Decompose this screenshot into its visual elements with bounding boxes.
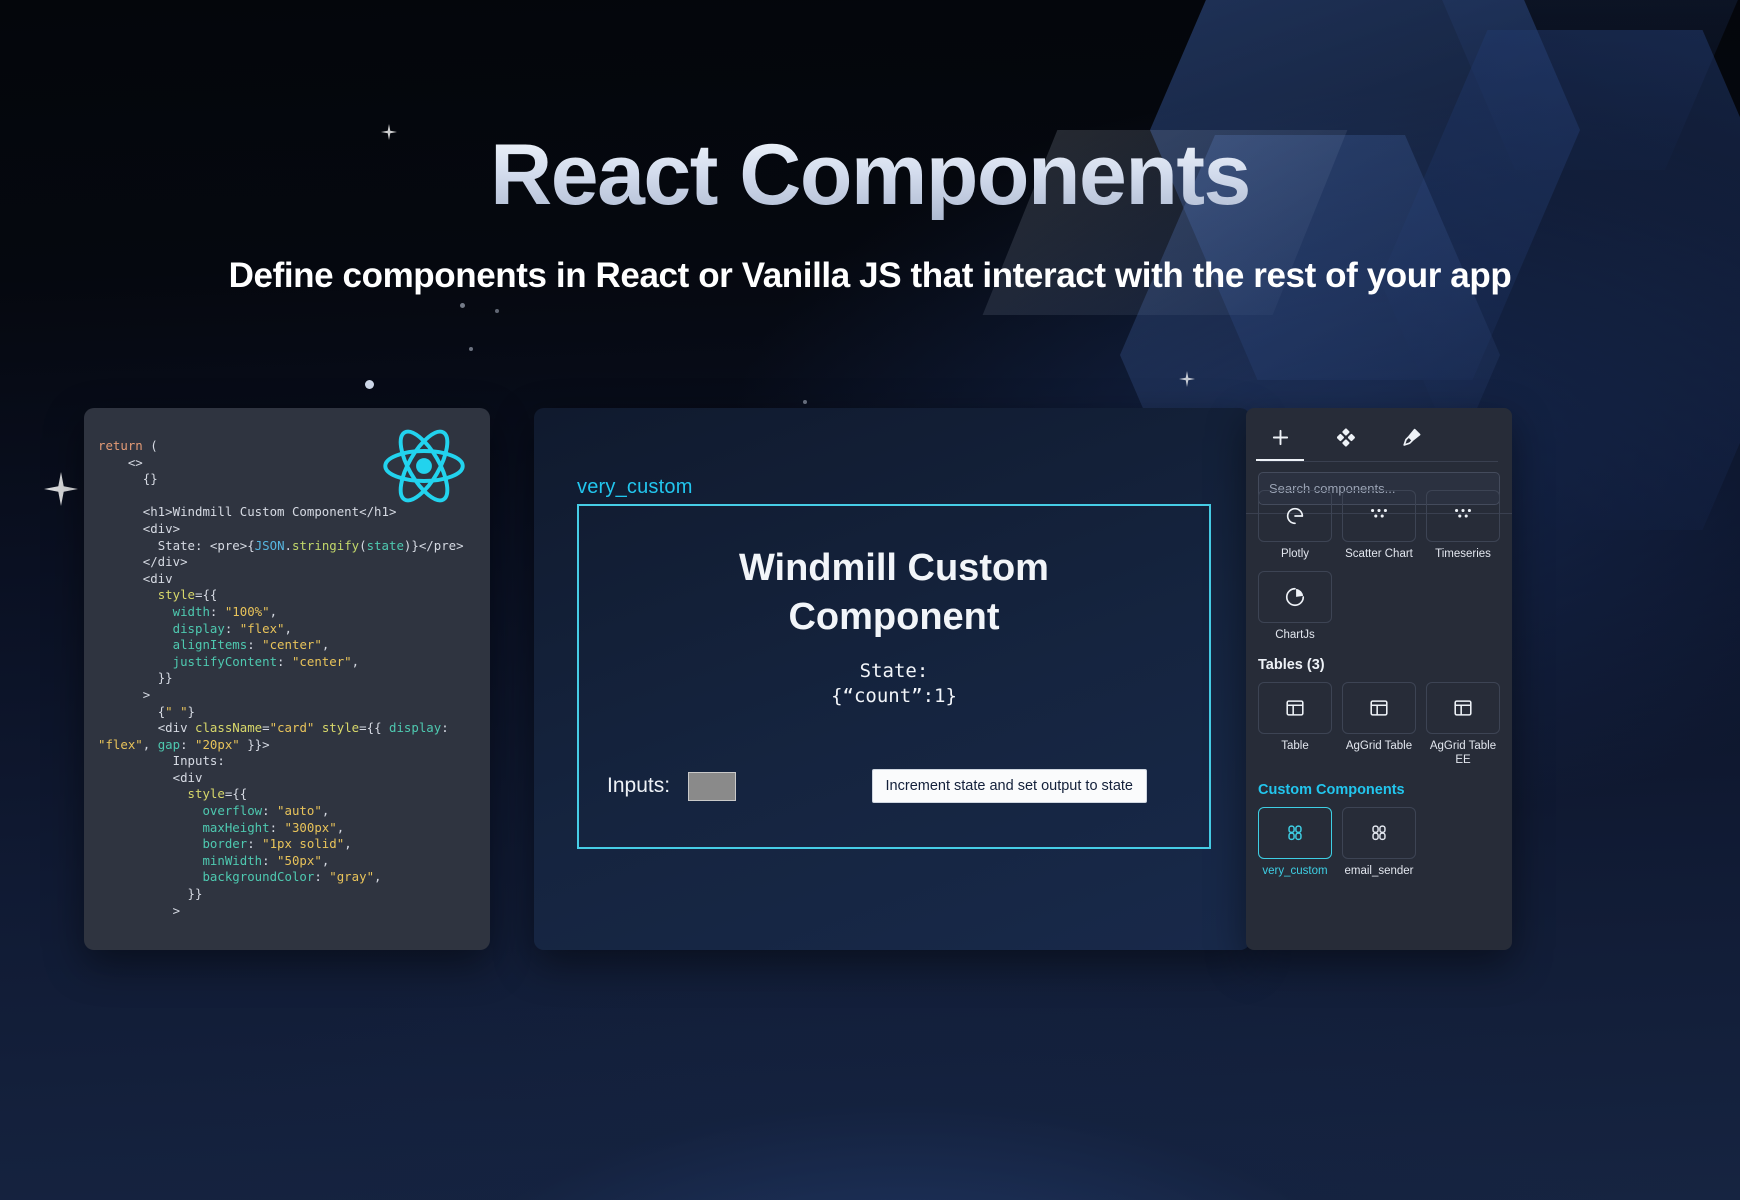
library-item-label: Plotly (1258, 547, 1332, 561)
library-item-label: very_custom (1258, 864, 1332, 878)
table-tile[interactable] (1258, 682, 1332, 734)
tab-components[interactable] (1326, 420, 1366, 454)
library-item[interactable]: AgGrid Table EE (1426, 682, 1500, 768)
code-editor-card: return ( <> {} <h1>Windmill Custom Compo… (84, 408, 490, 950)
library-item-label: AgGrid Table EE (1426, 739, 1500, 768)
code-block: return ( <> {} <h1>Windmill Custom Compo… (84, 438, 490, 919)
library-item[interactable]: Plotly (1258, 490, 1332, 561)
inputs-label: Inputs: (607, 774, 670, 798)
library-item-label: ChartJs (1258, 628, 1332, 642)
library-item-label: AgGrid Table (1342, 739, 1416, 753)
gauge-chart-icon (1284, 505, 1306, 527)
charts-row-2: ChartJs (1258, 571, 1500, 642)
library-item-label: Timeseries (1426, 547, 1500, 561)
state-value: {“count”:1} (579, 684, 1209, 709)
tables-section-title: Tables (3) (1258, 657, 1500, 673)
library-item[interactable]: ChartJs (1258, 571, 1332, 642)
custom-components-row: very_custom email_sender (1258, 807, 1500, 878)
library-item-label: Table (1258, 739, 1332, 753)
dot-decoration (365, 380, 374, 389)
library-item[interactable]: AgGrid Table (1342, 682, 1416, 768)
pie-chart-icon (1284, 586, 1306, 608)
diamond-grid-icon (1337, 428, 1356, 447)
increment-state-button[interactable]: Increment state and set output to state (872, 769, 1147, 803)
library-item[interactable]: email_sender (1342, 807, 1416, 878)
chart-tile[interactable] (1258, 571, 1332, 623)
table-grid-icon (1452, 697, 1474, 719)
library-item[interactable]: Timeseries (1426, 490, 1500, 561)
chart-tile[interactable] (1426, 490, 1500, 542)
inputs-preview-box (688, 772, 736, 801)
scatter-dots-icon (1452, 505, 1474, 527)
chart-tile[interactable] (1342, 490, 1416, 542)
selected-component-frame[interactable]: Windmill Custom Component State: {“count… (577, 504, 1211, 849)
page-subtitle: Define components in React or Vanilla JS… (0, 256, 1740, 296)
sparkle-icon (44, 472, 78, 506)
panel-content: Plotly Scatter Chart (1246, 490, 1512, 878)
component-state: State: {“count”:1} (579, 659, 1209, 708)
table-tile[interactable] (1426, 682, 1500, 734)
sparkle-icon (1179, 371, 1195, 387)
component-controls-row: Inputs: Increment state and set output t… (607, 769, 1181, 803)
page-title: React Components (0, 130, 1740, 220)
plus-icon (1271, 428, 1290, 447)
library-item[interactable]: Scatter Chart (1342, 490, 1416, 561)
table-grid-icon (1368, 697, 1390, 719)
table-grid-icon (1284, 697, 1306, 719)
custom-component-tile[interactable] (1342, 807, 1416, 859)
custom-component-tile[interactable] (1258, 807, 1332, 859)
tables-row: Table AgGrid Table (1258, 682, 1500, 768)
tab-add[interactable] (1260, 420, 1300, 454)
dot-decoration (803, 400, 807, 404)
tab-styling[interactable] (1392, 420, 1432, 454)
charts-row-clipped: Plotly Scatter Chart (1258, 490, 1500, 561)
component-blocks-icon (1284, 822, 1306, 844)
page-root: React Components Define components in Re… (0, 0, 1740, 1200)
custom-components-section-title: Custom Components (1258, 782, 1500, 798)
library-item[interactable]: very_custom (1258, 807, 1332, 878)
paintbrush-icon (1402, 427, 1422, 447)
component-heading: Windmill Custom Component (684, 544, 1104, 641)
dot-decoration (460, 303, 465, 308)
state-label: State: (579, 659, 1209, 684)
component-blocks-icon (1368, 822, 1390, 844)
chart-tile[interactable] (1258, 490, 1332, 542)
scatter-dots-icon (1368, 505, 1390, 527)
panel-tabs (1246, 408, 1512, 454)
component-name-label: very_custom (577, 476, 693, 499)
library-item[interactable]: Table (1258, 682, 1332, 768)
app-canvas: very_custom Windmill Custom Component St… (534, 408, 1250, 950)
table-tile[interactable] (1342, 682, 1416, 734)
dot-decoration (495, 309, 499, 313)
library-item-label: email_sender (1342, 864, 1416, 878)
hero-section: React Components Define components in Re… (0, 130, 1740, 296)
library-item-label: Scatter Chart (1342, 547, 1416, 561)
component-library-panel: Plotly Scatter Chart (1246, 408, 1512, 950)
dot-decoration (469, 347, 473, 351)
